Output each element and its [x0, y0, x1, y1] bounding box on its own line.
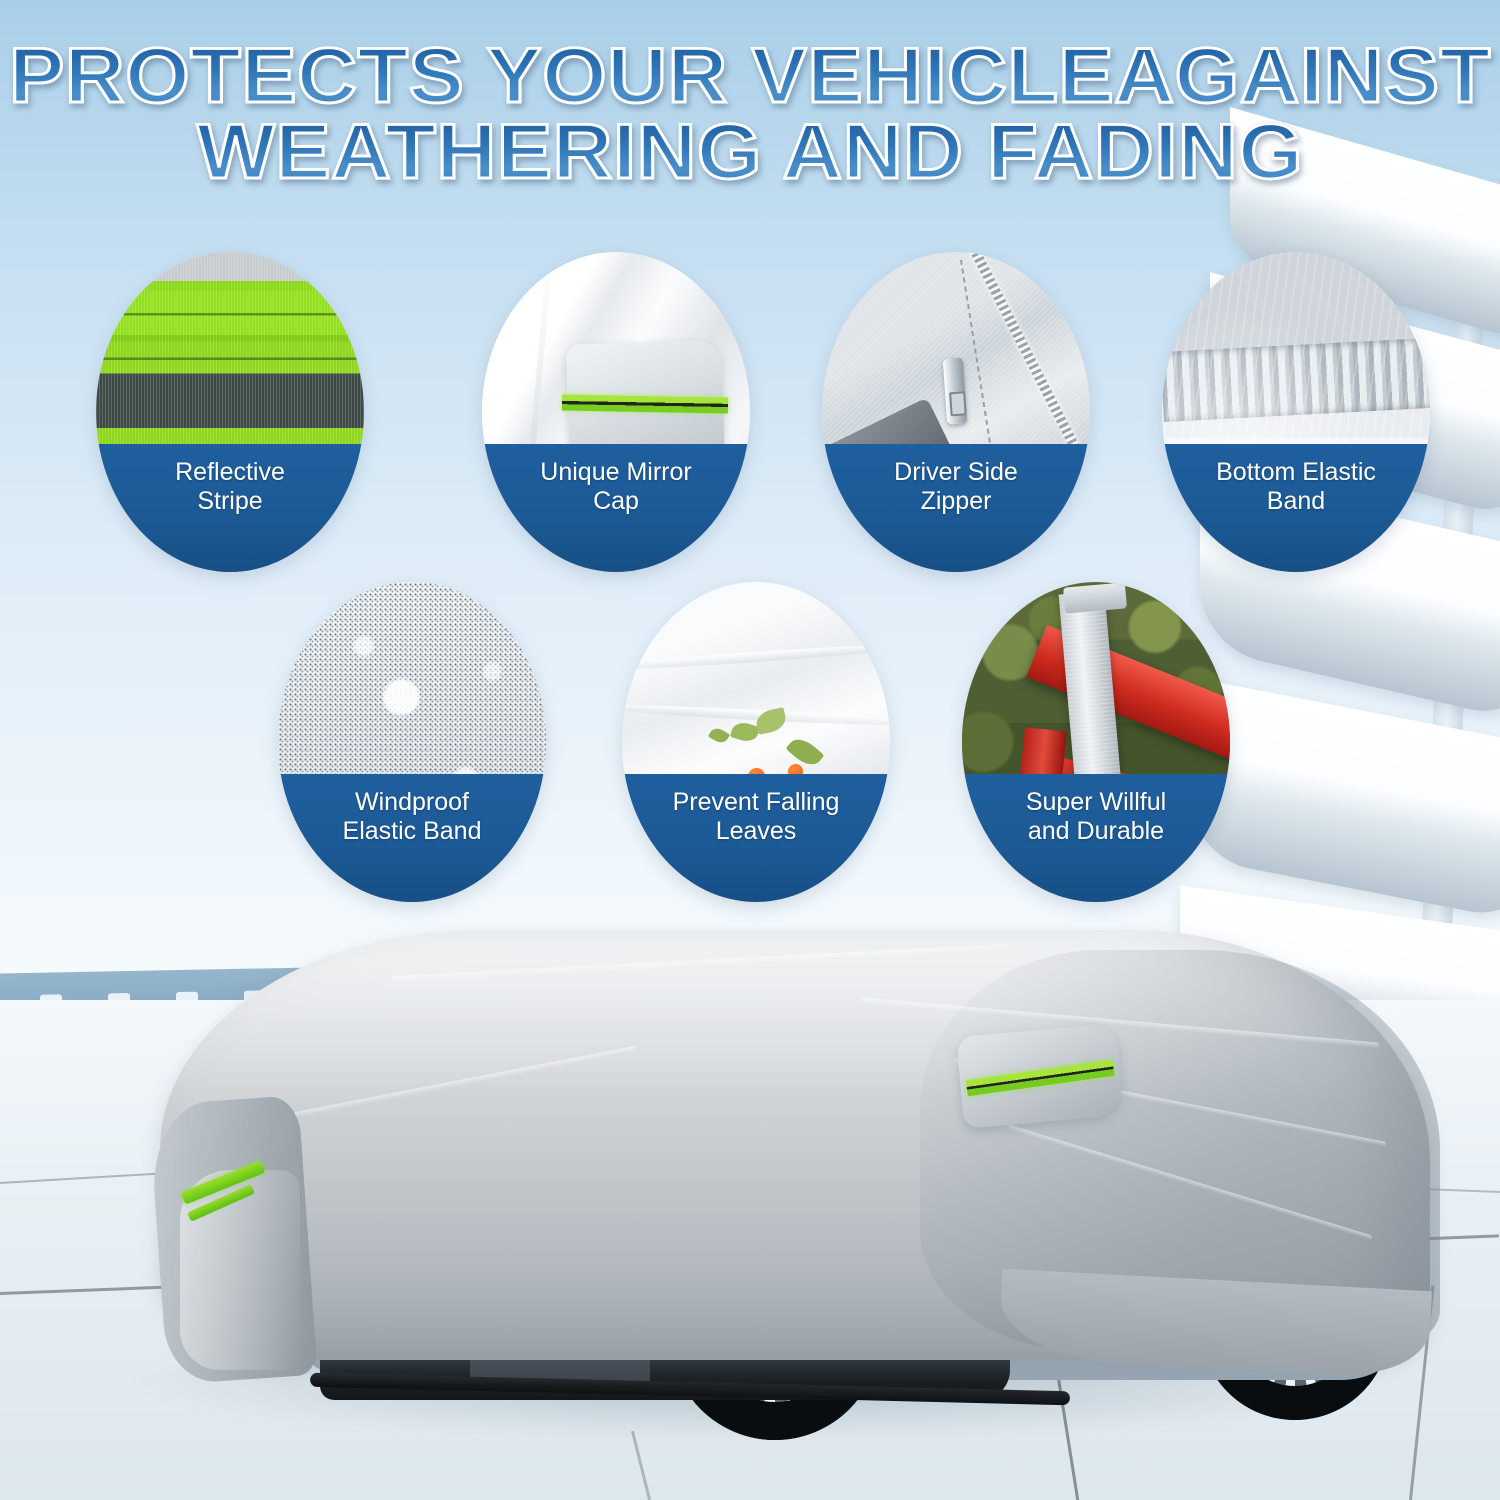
- feature-label-band: Bottom Elastic Band: [1162, 444, 1430, 572]
- feature-label-band: Windproof Elastic Band: [278, 774, 546, 902]
- feature-label: Driver Side Zipper: [886, 458, 1026, 515]
- leaf-icon: [708, 725, 730, 746]
- fabric-ripple: [622, 641, 890, 673]
- feature-driver-side-zipper[interactable]: Driver Side Zipper: [822, 252, 1090, 572]
- feature-label: Super Willful and Durable: [1018, 788, 1174, 845]
- feature-prevent-falling-leaves[interactable]: Prevent Falling Leaves: [622, 582, 890, 902]
- feature-label-band: Unique Mirror Cap: [482, 444, 750, 572]
- feature-label-band: Super Willful and Durable: [962, 774, 1230, 902]
- feature-label-band: Prevent Falling Leaves: [622, 774, 890, 902]
- cover-fold: [390, 944, 1010, 983]
- reflective-stripe-icon: [562, 395, 728, 414]
- headline-line-2: WEATHERING AND FADING: [0, 114, 1500, 190]
- feature-label-band: Driver Side Zipper: [822, 444, 1090, 572]
- hero-car-with-cover: [140, 930, 1440, 1450]
- reflective-stripe-icon: [966, 1060, 1115, 1096]
- feature-label: Unique Mirror Cap: [532, 458, 699, 515]
- feature-windproof-elastic-band[interactable]: Windproof Elastic Band: [278, 582, 546, 902]
- zipper-pull-icon: [943, 357, 968, 424]
- feature-reflective-stripe[interactable]: Reflective Stripe: [96, 252, 364, 572]
- headline: PROTECTS YOUR VEHICLEAGAINST WEATHERING …: [0, 38, 1500, 189]
- feature-label: Bottom Elastic Band: [1208, 458, 1384, 515]
- feature-bottom-elastic-band[interactable]: Bottom Elastic Band: [1162, 252, 1430, 572]
- feature-super-willful-and-durable[interactable]: Super Willful and Durable: [962, 582, 1230, 902]
- feature-unique-mirror-cap[interactable]: Unique Mirror Cap: [482, 252, 750, 572]
- cover-mirror-pocket: [956, 1023, 1123, 1129]
- cover-fold: [283, 1046, 638, 1121]
- feature-label: Windproof Elastic Band: [335, 788, 490, 845]
- feature-label: Prevent Falling Leaves: [665, 788, 848, 845]
- feature-label: Reflective Stripe: [167, 458, 293, 515]
- headline-line-1: PROTECTS YOUR VEHICLEAGAINST: [0, 38, 1500, 114]
- feature-label-band: Reflective Stripe: [96, 444, 364, 572]
